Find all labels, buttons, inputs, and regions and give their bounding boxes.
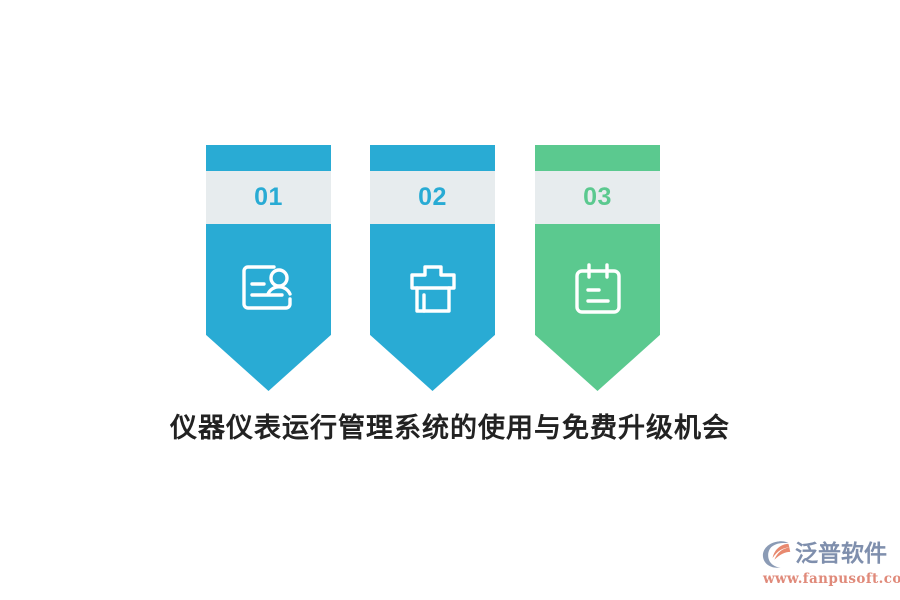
notepad-clipboard-icon [535, 241, 660, 337]
brand-name: 泛普软件 [795, 543, 887, 566]
step-banner-02[interactable]: 02 [370, 145, 495, 391]
brand-url: www.fanpusoft.com [763, 571, 894, 587]
id-card-person-icon [206, 241, 331, 337]
step-banner-group: 01 02 [206, 145, 660, 391]
hospital-building-icon [370, 241, 495, 337]
step-number-01: 01 [254, 185, 283, 210]
brand-watermark: 泛普软件 www.fanpusoft.com [762, 538, 894, 590]
step-number-band-02: 02 [370, 171, 495, 224]
step-number-band-01: 01 [206, 171, 331, 224]
fanpu-arc-logo-icon [762, 540, 792, 569]
step-banner-01[interactable]: 01 [206, 145, 331, 391]
step-number-02: 02 [418, 185, 447, 210]
step-number-band-03: 03 [535, 171, 660, 224]
page-title: 仪器仪表运行管理系统的使用与免费升级机会 [0, 406, 900, 445]
brand-watermark-top: 泛普软件 [762, 538, 894, 570]
slide-canvas: 01 02 [0, 0, 900, 600]
step-banner-03[interactable]: 03 [535, 145, 660, 391]
step-number-03: 03 [583, 185, 612, 210]
